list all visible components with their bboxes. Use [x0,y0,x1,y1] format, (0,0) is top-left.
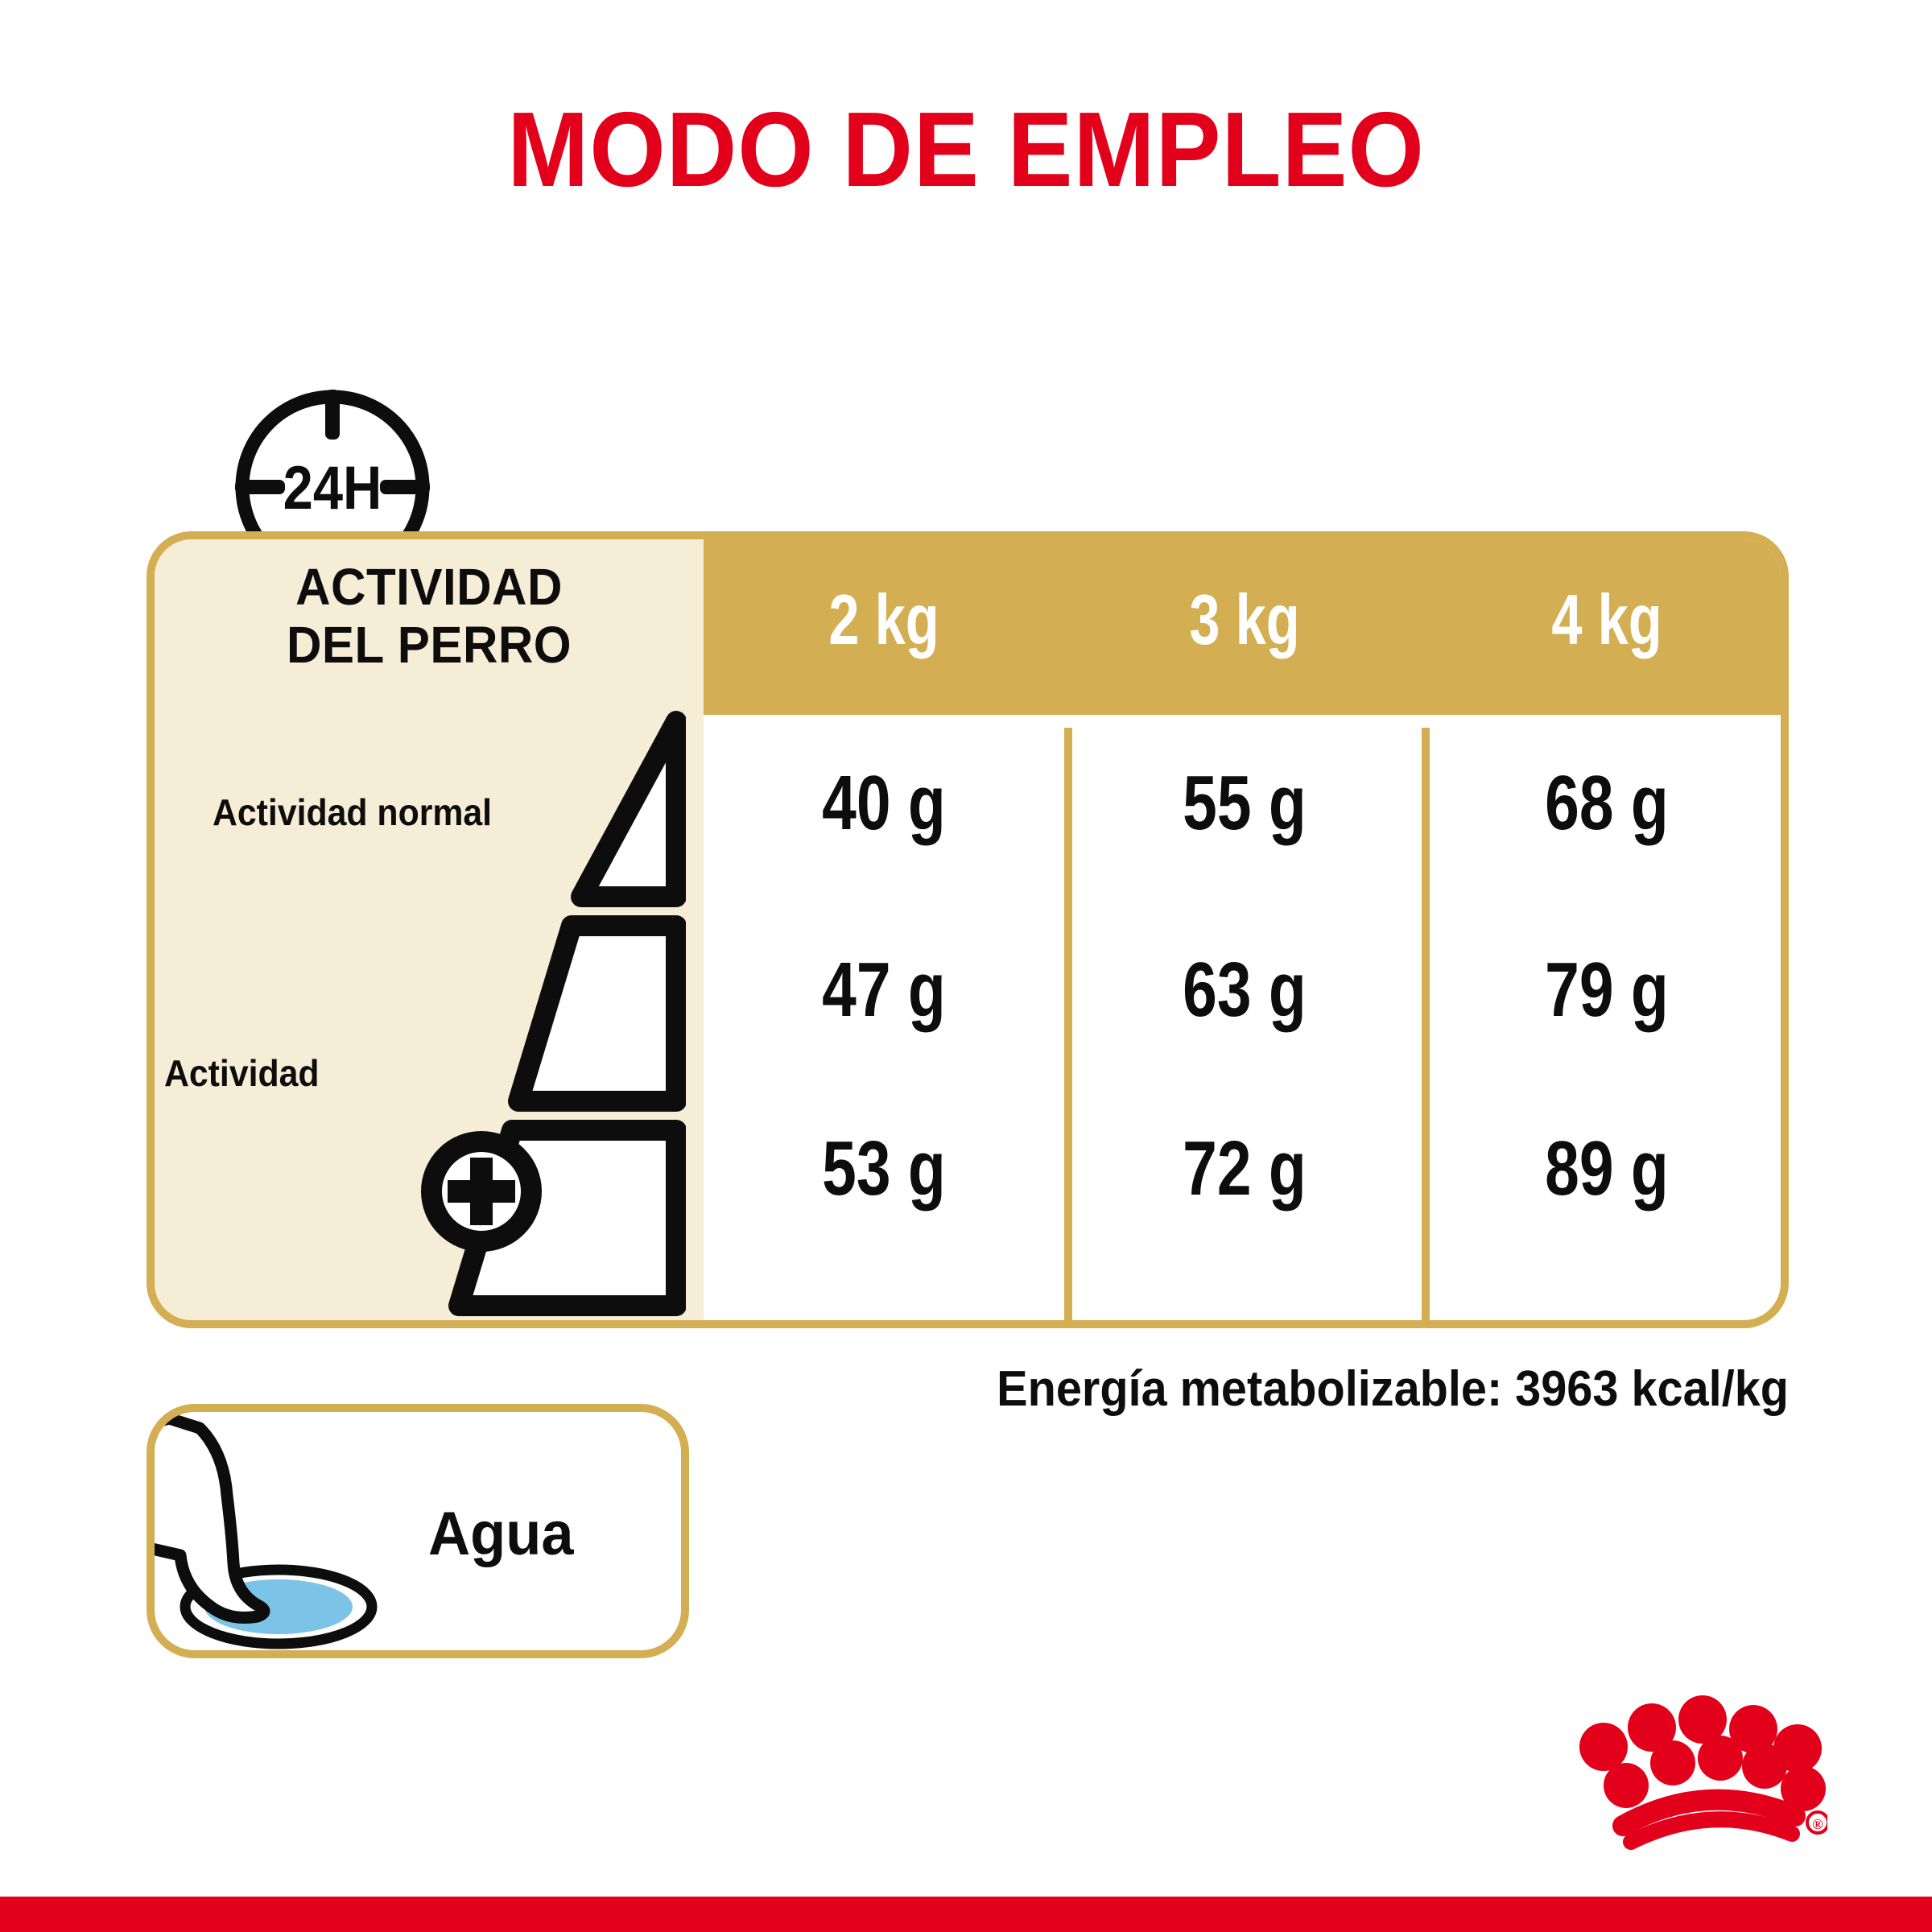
column-header-3kg: 3 kg [1104,572,1385,668]
table-cell: 79 g [1461,942,1752,1038]
table-cell: 47 g [740,942,1028,1038]
column-header-4kg: 4 kg [1465,572,1749,668]
clock-24h-label: 24H [283,454,382,522]
activity-step-small-icon [581,721,676,897]
table-cell: 55 g [1100,755,1389,852]
column-divider [1422,728,1430,1320]
activity-column-header-line1: ACTIVIDAD [171,559,687,617]
column-divider [1064,728,1072,1320]
plus-badge-icon [431,1141,531,1241]
activity-label-high: Actividad [164,1051,320,1095]
table-cell: 72 g [1100,1121,1389,1217]
table-cell: 53 g [740,1121,1028,1217]
water-label: Agua [428,1499,574,1569]
table-cell: 89 g [1461,1121,1752,1217]
table-cell: 40 g [740,755,1028,852]
table-cell: 63 g [1100,942,1389,1038]
page-title: MODO DE EMPLEO [77,97,1855,203]
activity-column-header: ACTIVIDAD DEL PERRO [171,559,687,674]
crown-arcs [1623,1800,1795,1842]
feeding-table: ACTIVIDAD DEL PERRO 2 kg 3 kg 4 kg Activ… [147,531,1789,1328]
water-info-box: Agua [147,1404,689,1658]
royal-canin-crown-logo: ® [1554,1684,1827,1861]
bottom-accent-bar [0,1897,1932,1932]
activity-column-header-line2: DEL PERRO [171,617,687,675]
dog-drinking-water-icon [147,1406,459,1658]
registered-trademark-mark: ® [1807,1812,1827,1833]
table-cell: 68 g [1461,755,1752,852]
activity-level-steps-icon [340,710,686,1320]
activity-step-medium-icon [518,926,676,1101]
svg-text:®: ® [1812,1816,1823,1832]
column-header-2kg: 2 kg [743,572,1024,668]
